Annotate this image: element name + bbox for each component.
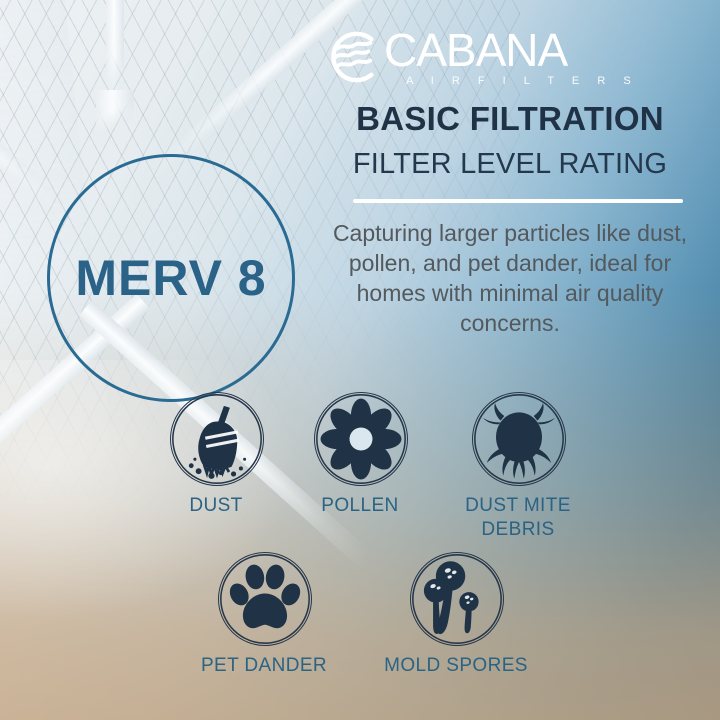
pet-dander-icon bbox=[218, 552, 312, 646]
icon-label: DUST bbox=[170, 494, 262, 518]
icon-label: PET DANDER bbox=[174, 654, 354, 678]
icon-item-dust-mite: DUST MITE DEBRIS bbox=[472, 392, 564, 542]
infographic-card: MERV 8 CABANA A I R F I L T E R S BASIC … bbox=[0, 0, 720, 720]
dust-mite-icon bbox=[472, 392, 566, 486]
brand-tagline: A I R F I L T E R S bbox=[384, 75, 638, 87]
page-title: BASIC FILTRATION bbox=[300, 100, 720, 138]
divider bbox=[353, 199, 683, 203]
pollen-icon bbox=[314, 392, 408, 486]
brand-wordmark: CABANA A I R F I L T E R S bbox=[384, 28, 638, 87]
brand-name: CABANA bbox=[384, 28, 638, 72]
icon-label: POLLEN bbox=[314, 494, 406, 518]
merv-rating-label: MERV 8 bbox=[75, 249, 266, 307]
content-column: CABANA A I R F I L T E R S BASIC FILTRAT… bbox=[300, 0, 720, 720]
dust-icon bbox=[170, 392, 264, 486]
page-subtitle: FILTER LEVEL RATING bbox=[300, 148, 720, 181]
mold-spores-icon bbox=[410, 552, 504, 646]
merv-rating-badge: MERV 8 bbox=[47, 154, 295, 402]
filter-wire-hub bbox=[96, 90, 134, 130]
description-text: Capturing larger particles like dust, po… bbox=[318, 218, 702, 338]
icon-item-dust: DUST bbox=[170, 392, 262, 518]
icon-item-mold-spores: MOLD SPORES bbox=[410, 552, 502, 678]
icon-label: MOLD SPORES bbox=[366, 654, 546, 678]
brand-logo: CABANA A I R F I L T E R S bbox=[324, 28, 702, 86]
icon-label: DUST MITE DEBRIS bbox=[443, 494, 593, 542]
icon-item-pet-dander: PET DANDER bbox=[218, 552, 310, 678]
cabana-wave-c-logo-icon bbox=[324, 30, 382, 84]
icon-item-pollen: POLLEN bbox=[314, 392, 406, 518]
